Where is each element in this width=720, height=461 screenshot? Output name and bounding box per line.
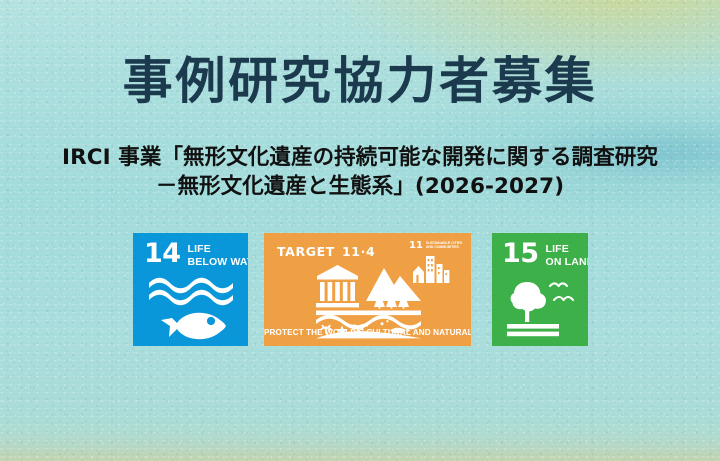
subtitle-line-1: IRCI 事業「無形文化遺産の持続可能な開発に関する調査研究 xyxy=(22,143,698,172)
sdg-11-badge-header: 11 SUSTAINABLE CITIES AND COMMUNITIES xyxy=(409,241,461,251)
tree-and-birds-icon xyxy=(504,277,578,339)
ground-lines-icon xyxy=(507,324,559,336)
sdg-15-artwork xyxy=(504,277,578,344)
sdg-14-label-line-2: BELOW WATER xyxy=(188,256,249,269)
heritage-caption: PROTECT THE WORLD'S CULTURAL AND NATURAL… xyxy=(264,328,471,337)
sdg-tile-15: 15 LIFE ON LAND xyxy=(492,233,588,346)
fish-icon xyxy=(161,313,226,339)
poster-subtitle: IRCI 事業「無形文化遺産の持続可能な開発に関する調査研究 －無形文化遺産と生… xyxy=(22,143,698,201)
birds-icon xyxy=(550,283,573,300)
sdg-14-header: 14 LIFE BELOW WATER xyxy=(144,242,248,269)
sdg-14-artwork xyxy=(147,275,235,346)
target-label: TARGET11·4 xyxy=(277,244,375,259)
sdg-14-label: LIFE BELOW WATER xyxy=(188,243,249,269)
sdg-15-header: 15 LIFE ON LAND xyxy=(502,242,588,269)
sdg-14-label-line-1: LIFE xyxy=(188,243,249,256)
target-number: 11·4 xyxy=(342,244,375,259)
sdg-14-number: 14 xyxy=(144,242,181,267)
subtitle-line-2: －無形文化遺産と生態系」(2026-2027) xyxy=(22,172,698,201)
classical-temple-icon xyxy=(316,265,359,307)
waves-and-fish-icon xyxy=(147,275,235,341)
sdg-tile-target-11-4: TARGET11·4 11 SUSTAINABLE CITIES AND COM… xyxy=(264,233,471,346)
divider-bar xyxy=(316,311,421,316)
tree-icon xyxy=(511,282,546,322)
page-title: 事例研究協力者募集 xyxy=(0,55,720,108)
waves-icon xyxy=(149,278,233,306)
sdg-15-number: 15 xyxy=(502,242,539,267)
sdg-15-label-line-2: ON LAND xyxy=(546,256,589,269)
sdg-tile-14: 14 LIFE BELOW WATER xyxy=(133,233,248,346)
sdg-11-badge-label-line-2: AND COMMUNITIES xyxy=(426,245,462,249)
target-word: TARGET xyxy=(277,244,335,259)
cultural-natural-heritage-icon xyxy=(314,259,424,339)
sdg-15-label-line-1: LIFE xyxy=(546,243,589,256)
sdg-11-badge-label: SUSTAINABLE CITIES AND COMMUNITIES xyxy=(426,241,462,250)
sdg-15-label: LIFE ON LAND xyxy=(546,243,589,269)
sdg-11-badge-number: 11 xyxy=(409,241,423,251)
poster-canvas: 事例研究協力者募集 IRCI 事業「無形文化遺産の持続可能な開発に関する調査研究… xyxy=(0,0,720,461)
mountains-forest-icon xyxy=(366,268,421,309)
